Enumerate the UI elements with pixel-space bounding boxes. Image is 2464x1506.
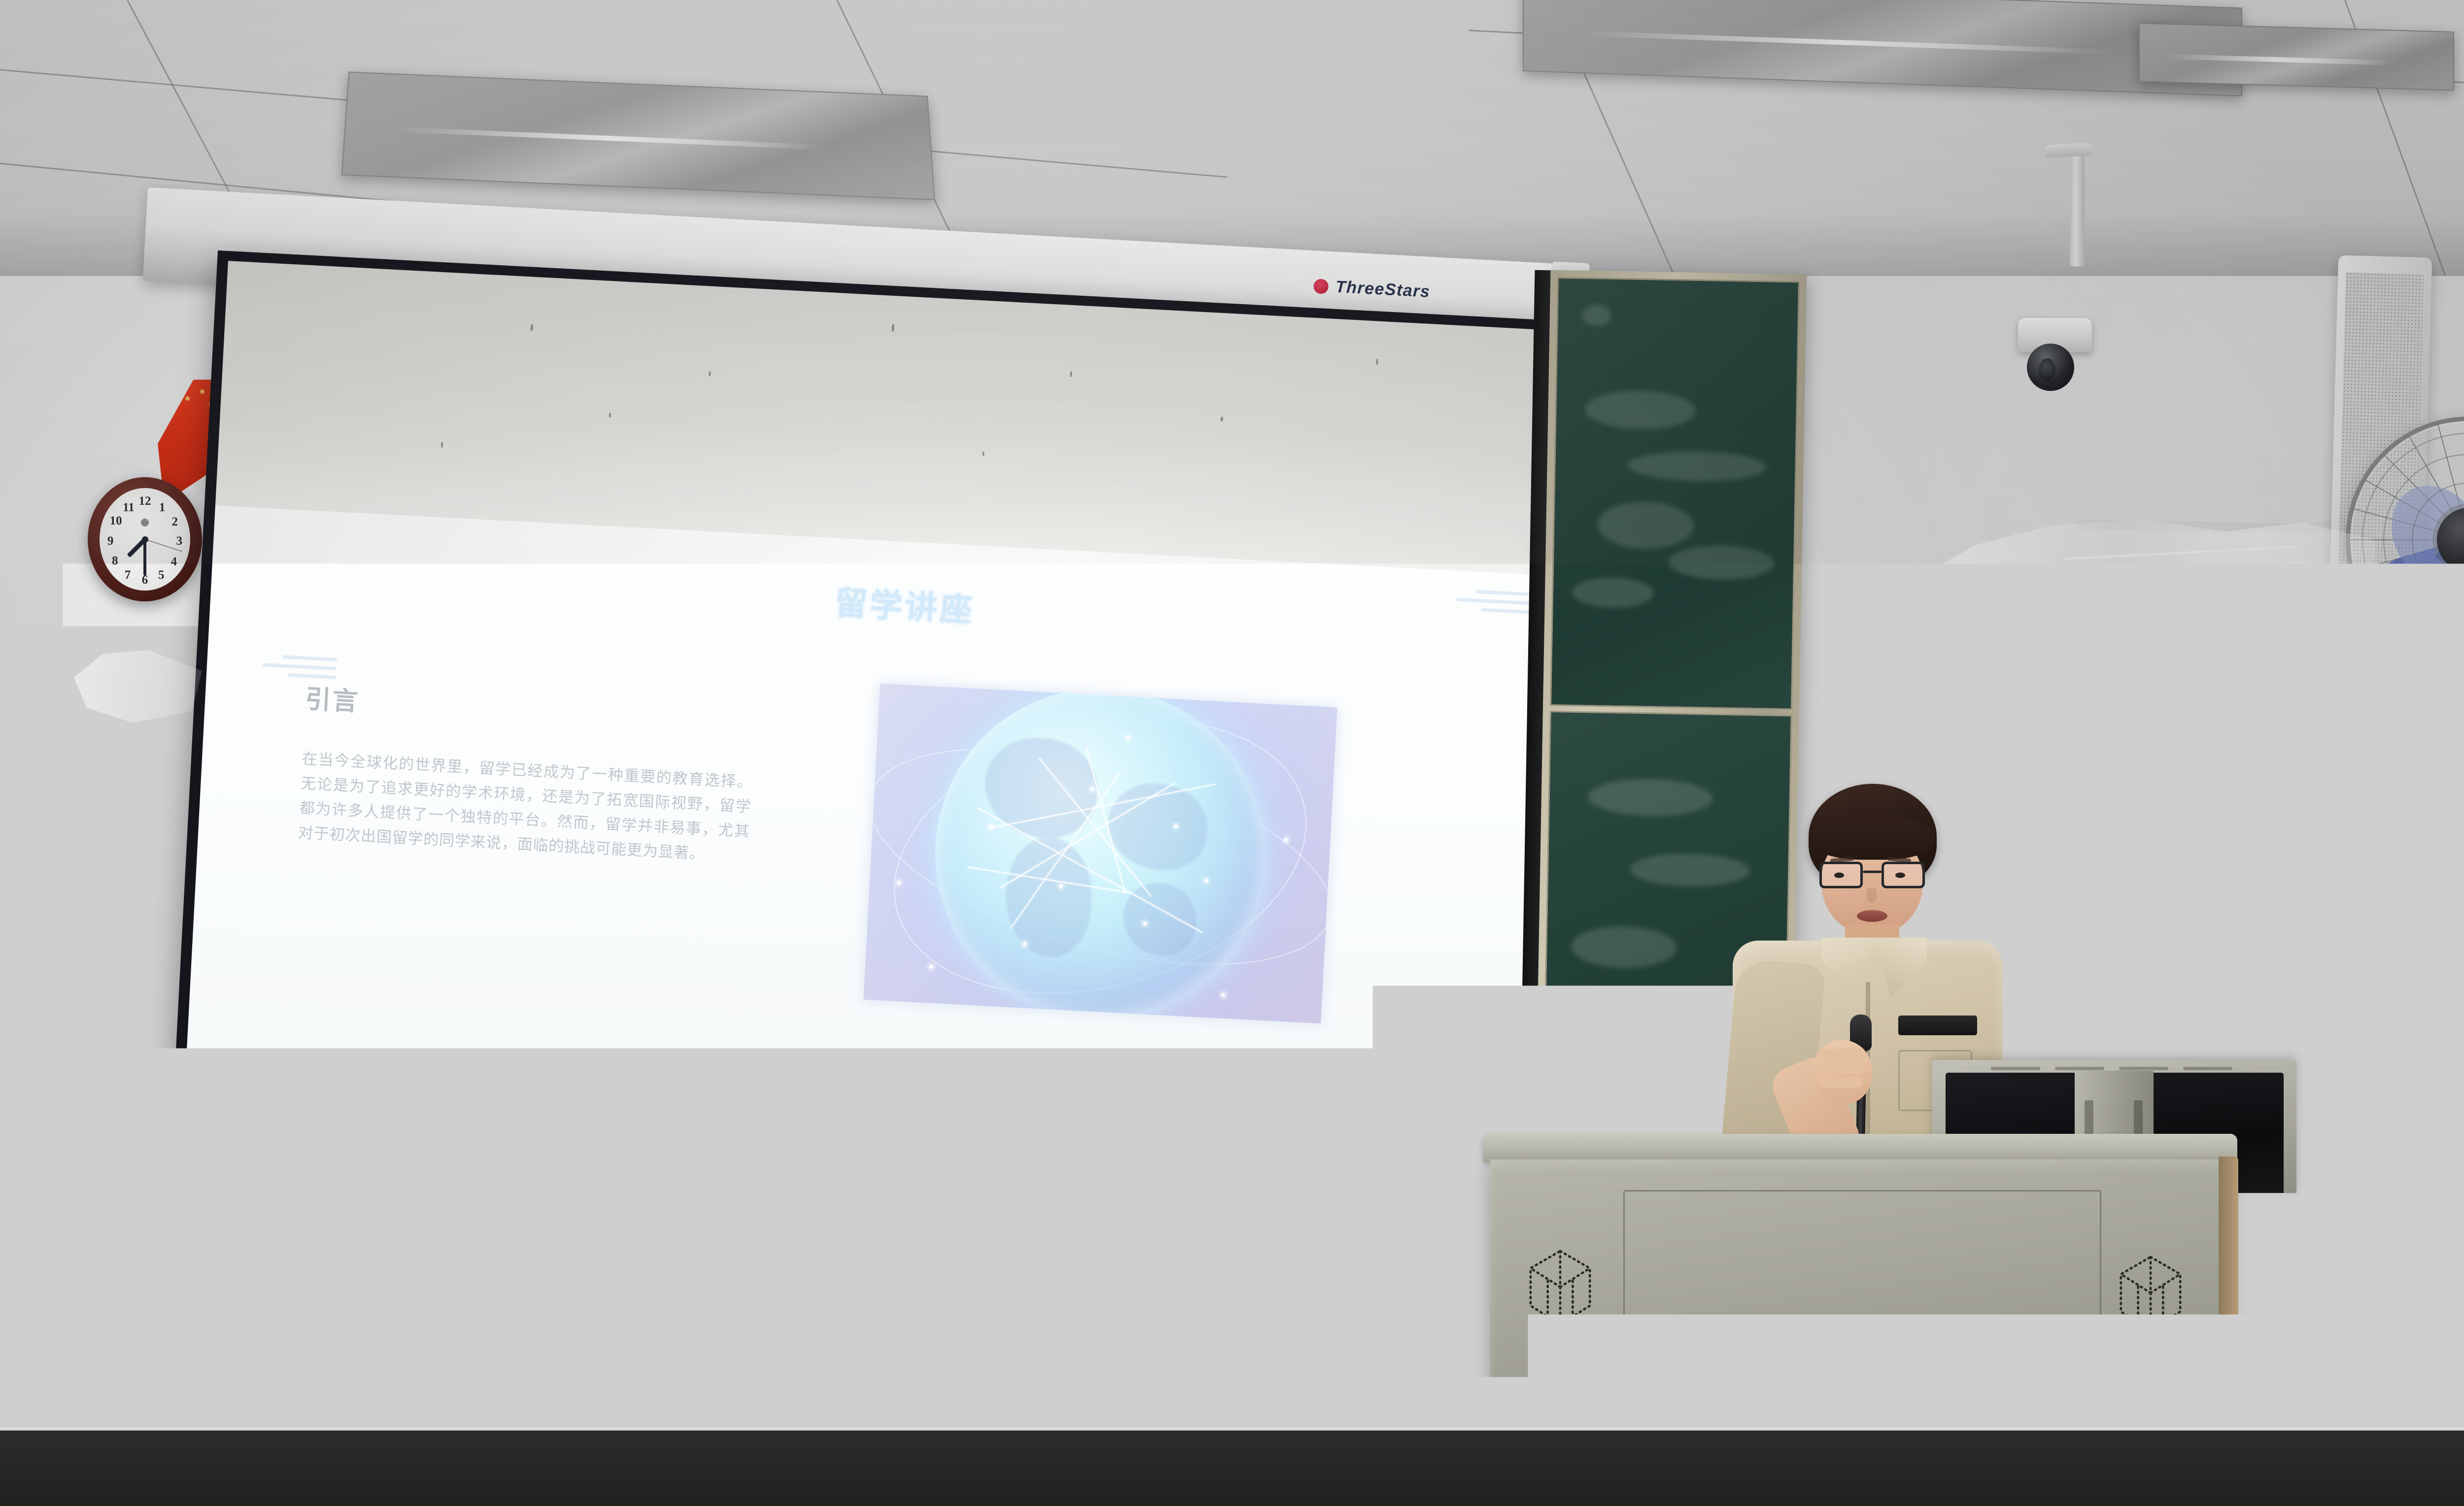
clock-numeral: 4 <box>171 555 177 569</box>
slide-figure-globe <box>863 683 1337 1024</box>
lectern-side-edge <box>2219 1156 2238 1433</box>
screen-surface: 留学讲座 引言 在当今全球化的世界里，留学已经成为了一种重要的教育选择。无论是为… <box>179 261 1614 1274</box>
clock-brand-mark <box>141 519 149 526</box>
security-camera <box>2018 318 2092 394</box>
lectern-top-surface <box>1483 1134 2237 1162</box>
slide-title: 留学讲座 <box>211 544 1599 664</box>
wall-conduit <box>2070 143 2085 266</box>
clock-numeral: 1 <box>159 501 166 515</box>
lectern-logo-left <box>1521 1243 1600 1337</box>
clock-numeral: 2 <box>171 515 178 529</box>
projector-screen: 留学讲座 引言 在当今全球化的世界里，留学已经成为了一种重要的教育选择。无论是为… <box>168 250 1625 1274</box>
clock-center-pin <box>142 536 148 543</box>
clock-numeral: 11 <box>123 501 135 515</box>
clock-minute-hand <box>143 539 146 576</box>
wall-conduit-elbow <box>2045 143 2092 158</box>
presenter-nose <box>1867 888 1877 903</box>
projector-brand: ThreeStars <box>1313 276 1431 302</box>
presentation-slide: 留学讲座 引言 在当今全球化的世界里，留学已经成为了一种重要的教育选择。无论是为… <box>183 505 1601 1198</box>
wall-clock: 12 1 2 3 4 5 6 7 8 9 10 11 <box>88 477 202 601</box>
chalkboard-panel-upper <box>1550 277 1800 710</box>
brand-logo-icon <box>1313 279 1329 294</box>
clock-numeral: 5 <box>158 568 165 582</box>
baseboard <box>0 1431 2464 1506</box>
clock-numeral: 12 <box>139 494 151 508</box>
clock-numeral: 7 <box>125 568 131 582</box>
clock-numeral: 8 <box>112 554 118 568</box>
presenter-mouth <box>1857 910 1887 922</box>
presenter-fringe <box>1812 814 1935 860</box>
slide-section-heading: 引言 <box>305 678 361 718</box>
presenter-name-badge <box>1898 1016 1977 1035</box>
classroom-photo-scene: 12 1 2 3 4 5 6 7 8 9 10 11 ThreeStars <box>0 0 2464 1506</box>
camera-lens-icon <box>2039 358 2055 381</box>
clock-face: 12 1 2 3 4 5 6 7 8 9 10 11 <box>100 488 190 591</box>
ceiling-light-fixture <box>2139 23 2454 91</box>
clock-numeral: 9 <box>107 534 114 548</box>
brand-name: ThreeStars <box>1335 278 1431 302</box>
clock-numeral: 3 <box>176 534 183 548</box>
lectern-front-panel <box>1490 1159 2230 1416</box>
slide-body-text: 在当今全球化的世界里，留学已经成为了一种重要的教育选择。无论是为了追求更好的学术… <box>298 746 753 869</box>
presenter-hand <box>1814 1040 1873 1104</box>
lectern-panel-inset <box>1623 1190 2101 1387</box>
lectern-logo-right <box>2111 1249 2190 1343</box>
junction-box[interactable] <box>936 1348 975 1394</box>
clock-numeral: 10 <box>110 514 122 528</box>
